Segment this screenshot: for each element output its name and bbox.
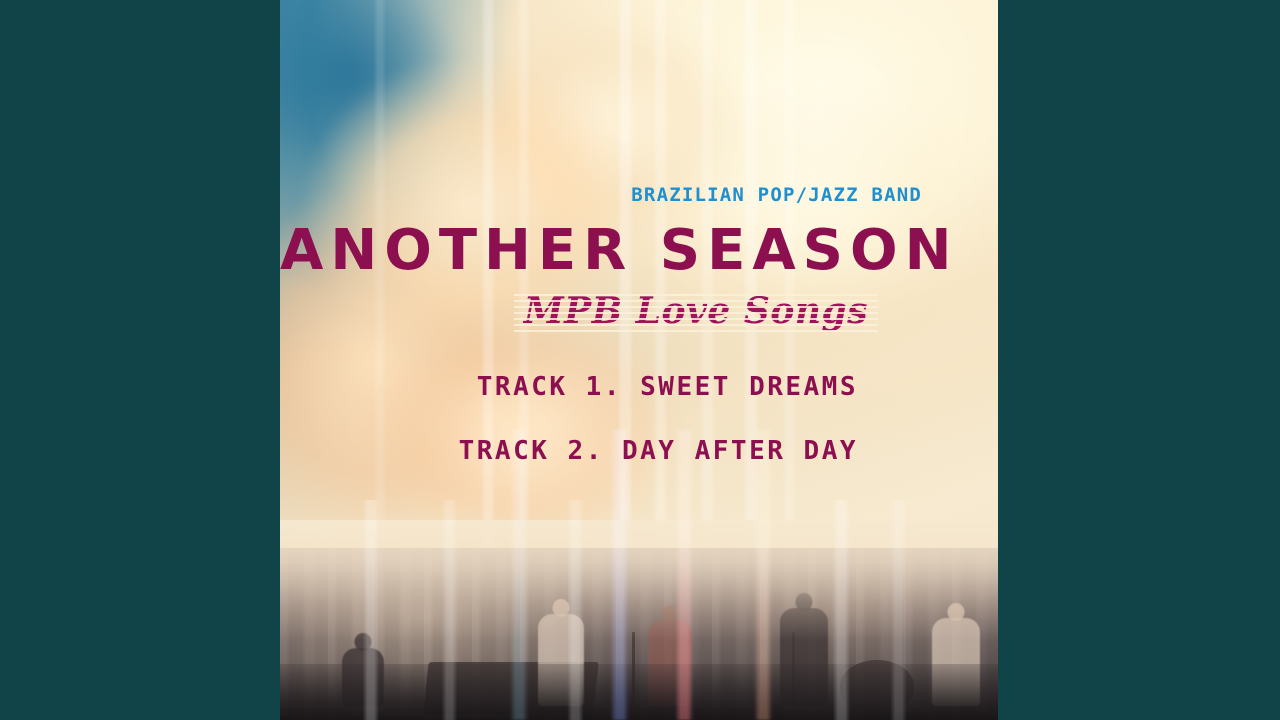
subtitle-wrapper: MPB Love Songs (524, 290, 868, 336)
letterbox-right (998, 0, 1280, 720)
album-artwork: BRAZILIAN POP/JAZZ BAND ANOTHER SEASON M… (280, 0, 998, 720)
video-player-stage: BRAZILIAN POP/JAZZ BAND ANOTHER SEASON M… (0, 0, 1280, 720)
track-1-label: TRACK 1. SWEET DREAMS (280, 372, 858, 402)
album-title: ANOTHER SEASON (280, 222, 936, 281)
track-2-label: TRACK 2. DAY AFTER DAY (280, 436, 858, 466)
artwork-text-layer: BRAZILIAN POP/JAZZ BAND ANOTHER SEASON M… (280, 0, 998, 720)
letterbox-left (0, 0, 280, 720)
album-subtitle: MPB Love Songs (524, 290, 868, 332)
genre-line: BRAZILIAN POP/JAZZ BAND (280, 184, 922, 206)
